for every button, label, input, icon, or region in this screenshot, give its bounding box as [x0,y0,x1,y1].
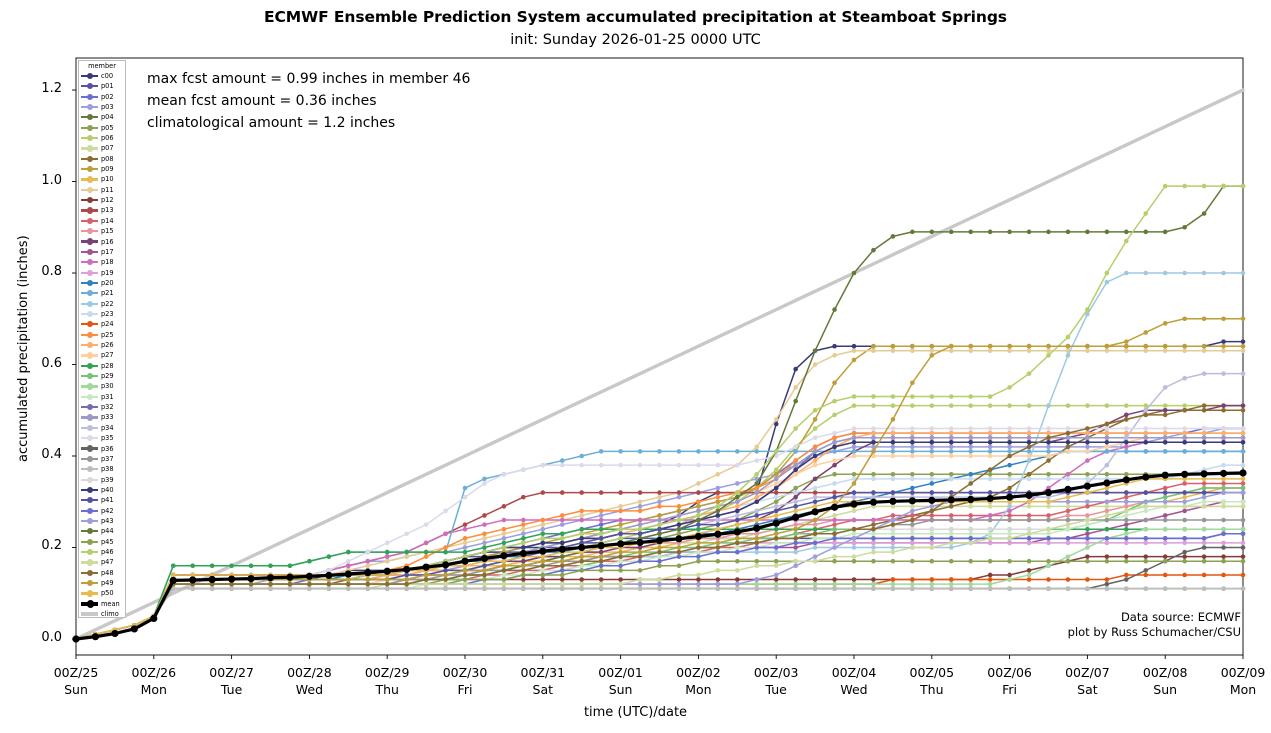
series-marker [793,399,798,404]
series-marker [1124,541,1129,546]
series-marker [364,569,371,576]
series-marker [1027,559,1032,564]
series-marker [541,536,546,541]
series-marker [560,554,565,559]
series-marker [560,559,565,564]
series-marker [774,541,779,546]
legend-item-p24[interactable]: p24 [80,320,126,330]
legend-item-p13[interactable]: p13 [80,206,126,216]
series-marker [949,477,954,482]
legend-label: p06 [101,133,114,143]
legend-label: p42 [101,506,114,516]
series-marker [1046,531,1051,536]
legend-label: p03 [101,102,114,112]
legend-item-p25[interactable]: p25 [80,330,126,340]
series-marker [1143,541,1148,546]
series-marker [560,522,565,527]
series-marker [871,545,876,550]
legend-label: p44 [101,526,114,536]
series-marker [1221,545,1226,550]
series-marker [1007,385,1012,390]
legend-marker [87,125,93,131]
series-marker [793,527,798,532]
series-marker [930,513,935,518]
series-marker [657,550,662,555]
legend-item-p19[interactable]: p19 [80,268,126,278]
series-marker [1221,463,1226,468]
series-marker [1124,435,1129,440]
series-marker [930,348,935,353]
legend-marker [87,228,93,234]
legend-label: p24 [101,319,114,329]
legend-item-p26[interactable]: p26 [80,341,126,351]
series-marker [424,541,429,546]
series-marker [1241,435,1246,440]
series-marker [871,522,876,527]
series-marker [968,454,973,459]
legend-item-p29[interactable]: p29 [80,372,126,382]
series-marker [463,550,468,555]
legend-item-p18[interactable]: p18 [80,258,126,268]
series-marker [832,495,837,500]
series-marker [891,586,896,591]
series-marker [1241,518,1246,523]
series-marker [1182,440,1187,445]
series-marker [1221,408,1226,413]
series-marker [521,582,526,587]
series-marker [1239,469,1246,476]
series-marker [327,582,332,587]
series-marker [793,559,798,564]
series-marker [1105,586,1110,591]
series-marker [1143,559,1148,564]
legend-item-p07[interactable]: p07 [80,144,126,154]
series-marker [852,426,857,431]
series-marker [1046,513,1051,518]
series-marker [560,568,565,573]
series-marker [949,445,954,450]
series-marker [638,582,643,587]
legend-label: p01 [101,81,114,91]
series-marker [307,586,312,591]
series-marker [482,582,487,587]
series-marker [793,577,798,582]
series-marker [1066,426,1071,431]
series-marker [910,477,915,482]
series-marker [1124,586,1129,591]
series-marker [793,531,798,536]
series-marker [754,481,759,486]
series-marker [638,499,643,504]
series-marker [754,563,759,568]
x-tick-label-day: Mon [653,682,743,697]
legend-item-c00[interactable]: c00 [80,72,126,82]
legend-item-p28[interactable]: p28 [80,361,126,371]
x-tick-label-day: Sat [1042,682,1132,697]
series-marker [1105,577,1110,582]
series-marker [599,559,604,564]
series-marker [735,577,740,582]
series-marker [1221,490,1226,495]
series-marker [1202,211,1207,216]
series-marker [424,577,429,582]
series-marker [1163,449,1168,454]
series-marker [1221,184,1226,189]
series-marker [1066,449,1071,454]
series-marker [1027,541,1032,546]
legend-item-p40[interactable]: p40 [80,486,126,496]
series-marker [638,531,643,536]
series-marker [1027,371,1032,376]
series-marker [1241,559,1246,564]
series-marker [1163,536,1168,541]
series-marker [696,509,701,514]
legend-item-p33[interactable]: p33 [80,413,126,423]
series-marker [599,449,604,454]
series-marker [1163,559,1168,564]
series-marker [988,582,993,587]
series-marker [1085,541,1090,546]
legend-item-p01[interactable]: p01 [80,82,126,92]
series-marker [716,541,721,546]
series-marker [1202,586,1207,591]
series-marker [813,445,818,450]
series-marker [463,495,468,500]
series-marker [832,559,837,564]
series-marker [1143,449,1148,454]
series-marker [502,582,507,587]
series-marker [1085,499,1090,504]
legend-item-p17[interactable]: p17 [80,247,126,257]
series-marker [696,559,701,564]
series-marker [482,545,487,550]
series-marker [949,545,954,550]
legend-item-p06[interactable]: p06 [80,134,126,144]
series-marker [307,559,312,564]
legend-marker [87,435,93,441]
legend-item-p12[interactable]: p12 [80,196,126,206]
series-marker [365,559,370,564]
legend-item-p39[interactable]: p39 [80,475,126,485]
series-marker [171,563,176,568]
legend-item-p43[interactable]: p43 [80,517,126,527]
series-marker [1066,440,1071,445]
series-marker [988,504,993,509]
legend-item-p14[interactable]: p14 [80,216,126,226]
legend-label: p47 [101,557,114,567]
legend-item-p15[interactable]: p15 [80,227,126,237]
legend-item-p23[interactable]: p23 [80,310,126,320]
series-marker [793,445,798,450]
series-marker [988,454,993,459]
series-marker [327,586,332,591]
series-marker [385,554,390,559]
series-marker [1046,348,1051,353]
legend-item-p21[interactable]: p21 [80,289,126,299]
series-marker [579,527,584,532]
legend-item-p32[interactable]: p32 [80,403,126,413]
series-marker [1124,449,1129,454]
series-marker [891,348,896,353]
series-marker [1066,499,1071,504]
series-marker [1163,486,1168,491]
legend-item-p49[interactable]: p49 [80,579,126,589]
series-marker [1105,527,1110,532]
y-tick-label: 1.0 [18,173,62,188]
series-marker [1163,435,1168,440]
legend-label: p11 [101,185,114,195]
legend-item-p03[interactable]: p03 [80,103,126,113]
series-marker [930,490,935,495]
series-marker [910,509,915,514]
legend-item-p16[interactable]: p16 [80,237,126,247]
legend-item-p46[interactable]: p46 [80,548,126,558]
series-marker [521,536,526,541]
legend-item-p38[interactable]: p38 [80,465,126,475]
series-marker [735,518,740,523]
series-marker [891,577,896,582]
series-marker [793,495,798,500]
legend-item-p50[interactable]: p50 [80,589,126,599]
series-marker [871,541,876,546]
series-marker [579,586,584,591]
series-marker [1182,376,1187,381]
series-marker [852,403,857,408]
series-marker [1103,479,1110,486]
series-marker [1124,573,1129,578]
legend-item-p41[interactable]: p41 [80,496,126,506]
series-marker [910,431,915,436]
series-marker [1124,348,1129,353]
series-marker [657,504,662,509]
series-marker [541,490,546,495]
series-marker [1027,403,1032,408]
series-marker [891,527,896,532]
series-marker [131,625,138,632]
series-marker [657,586,662,591]
legend-label: p16 [101,237,114,247]
legend-marker [87,559,93,565]
legend-item-p05[interactable]: p05 [80,123,126,133]
series-marker [793,586,798,591]
series-marker [1045,489,1052,496]
series-marker [988,467,993,472]
series-marker [968,344,973,349]
series-marker [1163,426,1168,431]
series-marker [852,445,857,450]
series-marker [891,545,896,550]
series-marker [1124,522,1129,527]
legend-item-p36[interactable]: p36 [80,444,126,454]
legend-item-p34[interactable]: p34 [80,423,126,433]
series-marker [1027,504,1032,509]
series-marker [521,573,526,578]
legend-item-p20[interactable]: p20 [80,279,126,289]
series-marker [813,458,818,463]
series-marker [968,586,973,591]
series-marker [346,559,351,564]
series-marker [1123,476,1130,483]
legend-item-p48[interactable]: p48 [80,568,126,578]
series-marker [599,509,604,514]
series-marker [735,504,740,509]
legend-item-climo[interactable]: climo [80,610,126,620]
series-marker [891,477,896,482]
legend-label: p08 [101,154,114,164]
series-marker [716,568,721,573]
series-marker [891,431,896,436]
x-tick-label-day: Fri [965,682,1055,697]
series-marker [813,541,818,546]
series-marker [930,426,935,431]
series-marker [638,586,643,591]
series-marker [288,586,293,591]
series-marker [1027,458,1032,463]
series-marker [502,573,507,578]
series-marker [1182,316,1187,321]
series-marker [813,531,818,536]
series-marker [618,504,623,509]
series-marker [1027,536,1032,541]
legend-item-p37[interactable]: p37 [80,454,126,464]
series-marker [988,518,993,523]
series-marker [988,577,993,582]
series-marker [832,586,837,591]
series-marker [949,531,954,536]
series-marker [852,518,857,523]
series-marker [638,577,643,582]
series-marker [930,541,935,546]
series-marker [1202,536,1207,541]
series-marker [754,499,759,504]
series-marker [1085,458,1090,463]
legend-item-p31[interactable]: p31 [80,392,126,402]
legend-item-p02[interactable]: p02 [80,92,126,102]
legend-item-p22[interactable]: p22 [80,299,126,309]
series-marker [385,550,390,555]
series-marker [482,536,487,541]
series-marker [249,582,254,587]
series-marker [1027,531,1032,536]
series-marker [599,527,604,532]
series-marker [930,403,935,408]
series-marker [249,586,254,591]
series-marker [1027,472,1032,477]
series-marker [190,586,195,591]
x-tick-label-date: 00Z/27 [187,665,277,680]
legend-item-p44[interactable]: p44 [80,527,126,537]
series-marker [813,348,818,353]
series-marker [618,463,623,468]
series-marker [1143,230,1148,235]
series-marker [1241,271,1246,276]
series-marker [852,509,857,514]
series-marker [1085,445,1090,450]
series-marker [1221,554,1226,559]
series-marker [618,577,623,582]
series-marker [424,586,429,591]
series-marker [910,449,915,454]
series-marker [930,344,935,349]
series-marker [696,513,701,518]
legend-item-p45[interactable]: p45 [80,537,126,547]
legend-item-p09[interactable]: p09 [80,165,126,175]
series-marker [307,582,312,587]
legend-item-p47[interactable]: p47 [80,558,126,568]
series-marker [638,449,643,454]
series-marker [891,559,896,564]
legend-item-p11[interactable]: p11 [80,185,126,195]
series-marker [813,463,818,468]
legend-label: p12 [101,195,114,205]
series-marker [774,573,779,578]
series-marker [754,582,759,587]
series-marker [988,426,993,431]
series-marker [1163,431,1168,436]
series-marker [579,559,584,564]
series-marker [968,445,973,450]
series-marker [968,394,973,399]
series-marker [1066,527,1071,532]
series-marker [638,554,643,559]
legend-item-p30[interactable]: p30 [80,382,126,392]
legend-label: p23 [101,309,114,319]
series-marker [1085,513,1090,518]
series-marker [463,573,468,578]
x-tick-label-date: 00Z/26 [109,665,199,680]
legend-item-p35[interactable]: p35 [80,434,126,444]
series-marker [949,449,954,454]
legend-item-p08[interactable]: p08 [80,154,126,164]
series-marker [968,440,973,445]
series-marker [1046,440,1051,445]
series-marker [521,559,526,564]
series-marker [1066,403,1071,408]
legend-item-p27[interactable]: p27 [80,351,126,361]
series-marker [949,536,954,541]
series-marker [481,555,488,562]
legend-item-p10[interactable]: p10 [80,175,126,185]
legend-item-mean[interactable]: mean [80,599,126,609]
series-marker [832,554,837,559]
series-marker [813,582,818,587]
legend-label: p14 [101,216,114,226]
series-marker [657,531,662,536]
series-marker [852,472,857,477]
series-marker [910,586,915,591]
series-marker [1182,431,1187,436]
series-marker [1143,568,1148,573]
series-marker [735,550,740,555]
series-marker [714,531,721,538]
series-marker [1124,495,1129,500]
series-marker [1066,513,1071,518]
series-marker [1046,353,1051,358]
series-marker [482,477,487,482]
series-marker [1027,577,1032,582]
series-marker [1066,504,1071,509]
series-marker [988,536,993,541]
legend-item-p04[interactable]: p04 [80,113,126,123]
series-marker [677,577,682,582]
series-marker [968,531,973,536]
series-marker [832,522,837,527]
series-marker [560,573,565,578]
series-marker [1046,586,1051,591]
legend-item-p42[interactable]: p42 [80,506,126,516]
legend-label: p41 [101,495,114,505]
series-marker [1007,577,1012,582]
